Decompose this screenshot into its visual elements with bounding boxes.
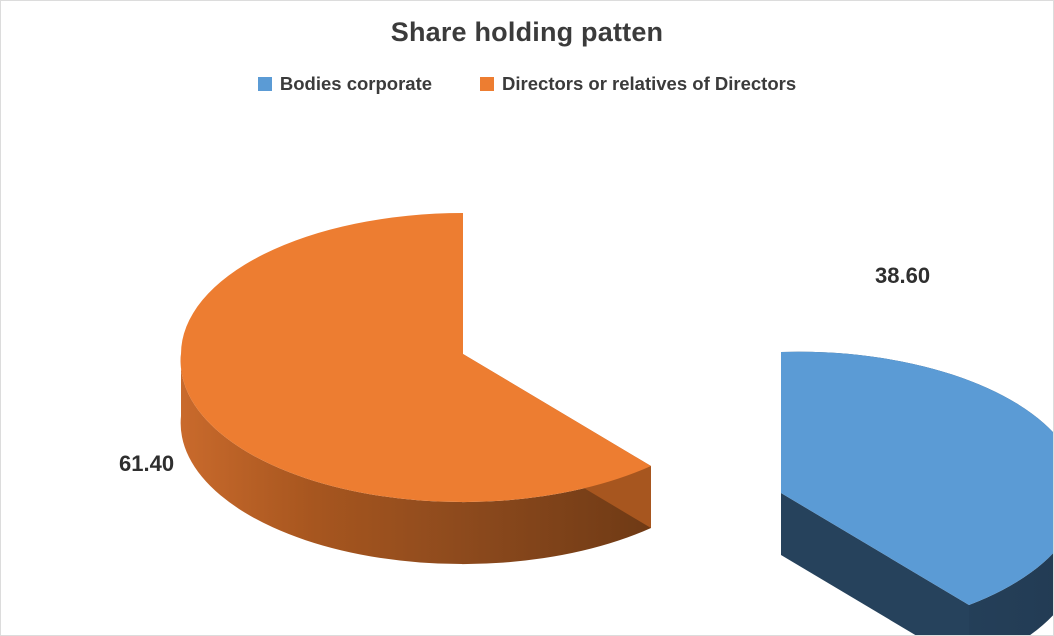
data-label-bodies-corporate: 38.60	[875, 263, 930, 289]
pie-chart-graphic	[1, 1, 1054, 636]
pie-slice-directors[interactable]	[181, 213, 651, 564]
chart-frame: Share holding patten Bodies corporate Di…	[0, 0, 1054, 636]
data-label-directors: 61.40	[119, 451, 174, 477]
pie-slice-bodies-corporate[interactable]	[781, 352, 1054, 636]
